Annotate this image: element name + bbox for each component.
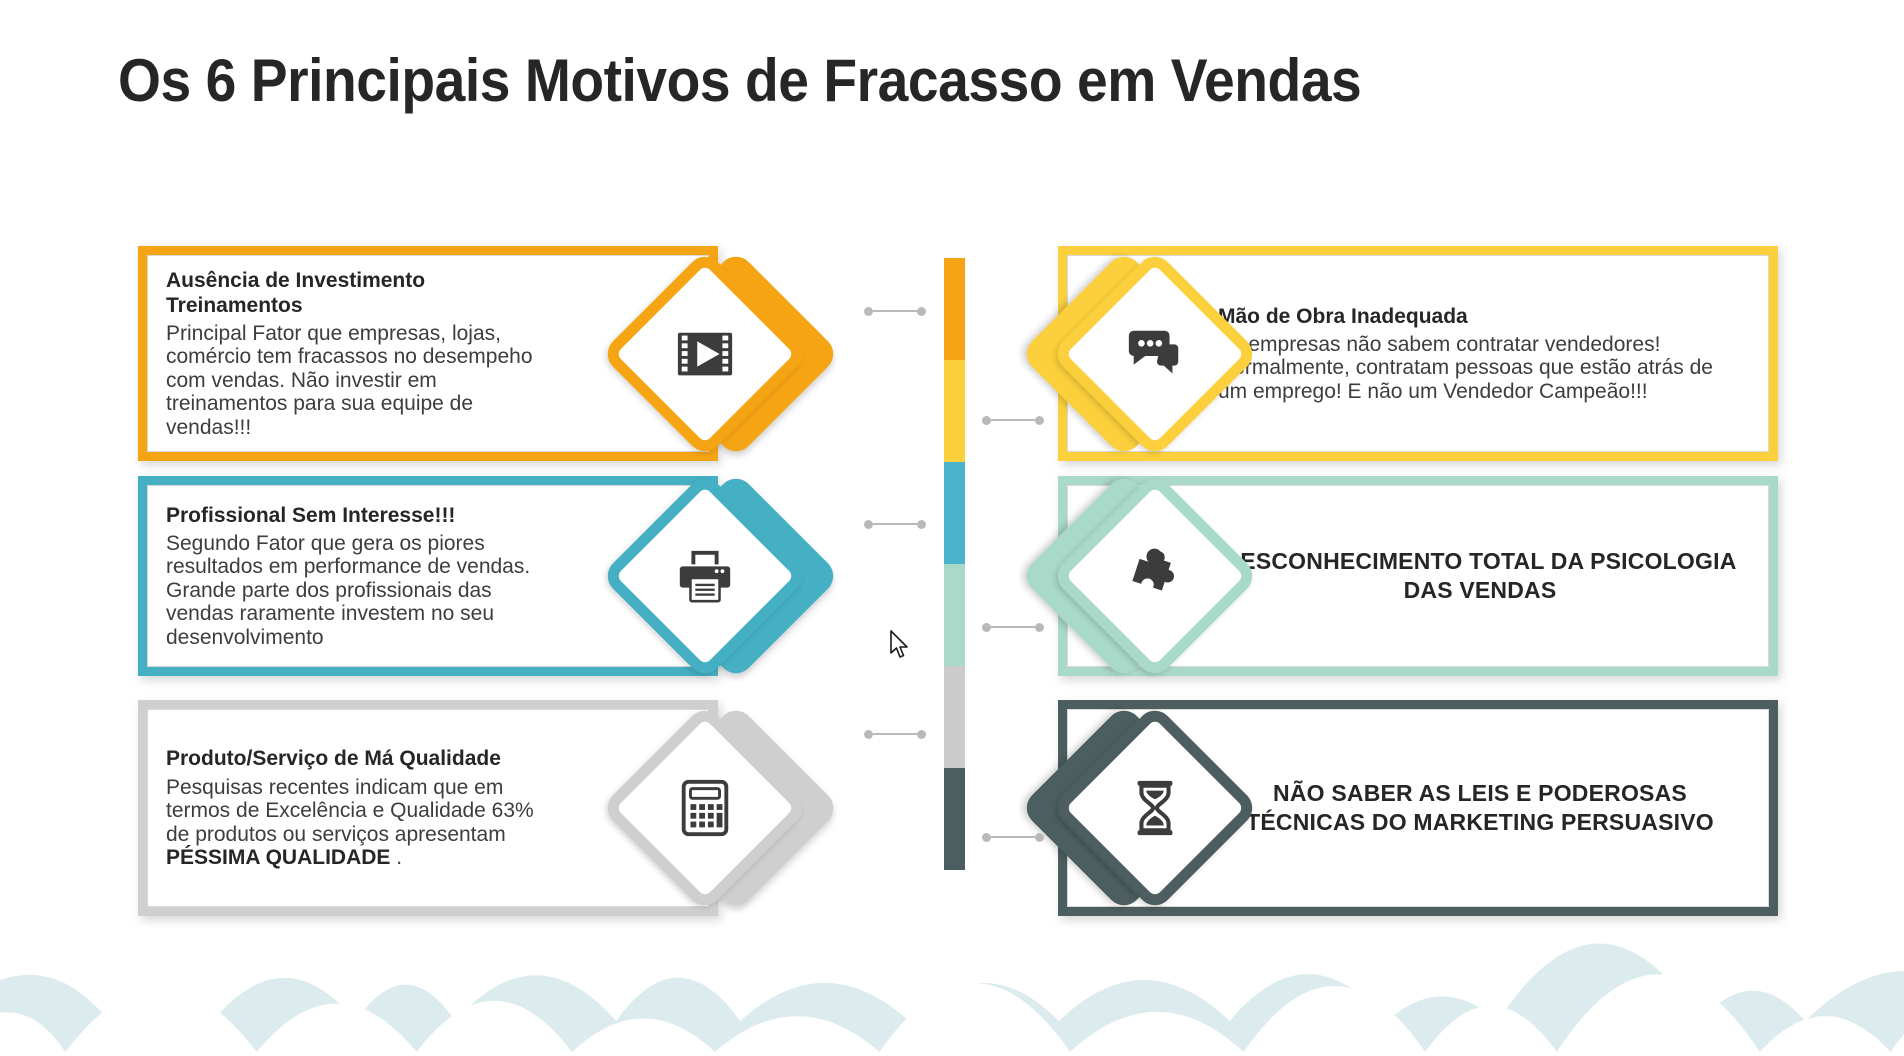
connector-stroke-6: [991, 836, 1035, 838]
card-heading-4: Mão de Obra Inadequada: [1218, 304, 1742, 329]
puzzle-piece-icon: [1081, 502, 1229, 650]
connector-line-3: [864, 519, 926, 529]
connector-dot-end-2: [1035, 416, 1044, 425]
connector-stroke-2: [991, 419, 1035, 421]
connector-dot-end-4: [1035, 623, 1044, 632]
connector-stroke-5: [873, 733, 917, 735]
connector-dot-start-1: [864, 307, 873, 316]
mouse-cursor: [889, 630, 911, 660]
calculator-icon: [631, 734, 779, 882]
diamond-badge-5[interactable]: [1050, 471, 1260, 681]
connector-line-5: [864, 729, 926, 739]
diamond-badge-1[interactable]: [600, 249, 810, 459]
connector-line-2: [982, 415, 1044, 425]
card-heading-2: Profissional Sem Interesse!!!: [166, 503, 558, 528]
connector-dot-start-2: [982, 416, 991, 425]
card-text-emphasis-3: PÉSSIMA QUALIDADE: [166, 846, 390, 869]
timeline-segment-1: [944, 258, 965, 360]
connector-line-1: [864, 306, 926, 316]
timeline-segment-3: [944, 462, 965, 564]
hourglass-icon: [1081, 734, 1229, 882]
diamond-badge-4[interactable]: [1050, 249, 1260, 459]
diamond-badge-2[interactable]: [600, 471, 810, 681]
diamond-badge-6[interactable]: [1050, 703, 1260, 913]
cursor-arrow-icon: [889, 630, 911, 660]
card-heading-6: NÃO SABER AS LEIS E PODEROSAS TÉCNICAS D…: [1218, 779, 1742, 837]
card-heading-1: Ausência de Investimento Treinamentos: [166, 268, 558, 318]
card-heading-5: DESCONHECIMENTO TOTAL DA PSICOLOGIA DAS …: [1218, 547, 1742, 605]
timeline-bar: [944, 258, 965, 870]
page-title: Os 6 Principais Motivos de Fracasso em V…: [118, 46, 1682, 115]
cloud-decoration: [0, 916, 1904, 1056]
timeline-segment-5: [944, 666, 965, 768]
timeline-segment-4: [944, 564, 965, 666]
connector-dot-end-3: [917, 520, 926, 529]
connector-stroke-1: [873, 310, 917, 312]
connector-dot-start-6: [982, 833, 991, 842]
connector-dot-end-1: [917, 307, 926, 316]
connector-dot-end-6: [1035, 833, 1044, 842]
timeline-segment-6: [944, 768, 965, 870]
connector-dot-end-5: [917, 730, 926, 739]
chat-bubbles-icon: [1081, 280, 1229, 428]
card-text-3: Pesquisas recentes indicam que em termos…: [166, 776, 558, 870]
card-heading-3: Produto/Serviço de Má Qualidade: [166, 746, 558, 771]
connector-line-6: [982, 832, 1044, 842]
printer-icon: [631, 502, 779, 650]
card-text-2: Segundo Fator que gera os piores resulta…: [166, 532, 558, 650]
connector-dot-start-5: [864, 730, 873, 739]
diamond-badge-3[interactable]: [600, 703, 810, 913]
card-text-1: Principal Fator que empresas, lojas, com…: [166, 322, 558, 440]
film-play-icon: [631, 280, 779, 428]
connector-dot-start-4: [982, 623, 991, 632]
connector-line-4: [982, 622, 1044, 632]
timeline-segment-2: [944, 360, 965, 462]
connector-stroke-4: [991, 626, 1035, 628]
connector-stroke-3: [873, 523, 917, 525]
card-text-4: As empresas não sabem contratar vendedor…: [1218, 333, 1742, 404]
connector-dot-start-3: [864, 520, 873, 529]
cloud-shape-icon: [0, 916, 1904, 1056]
